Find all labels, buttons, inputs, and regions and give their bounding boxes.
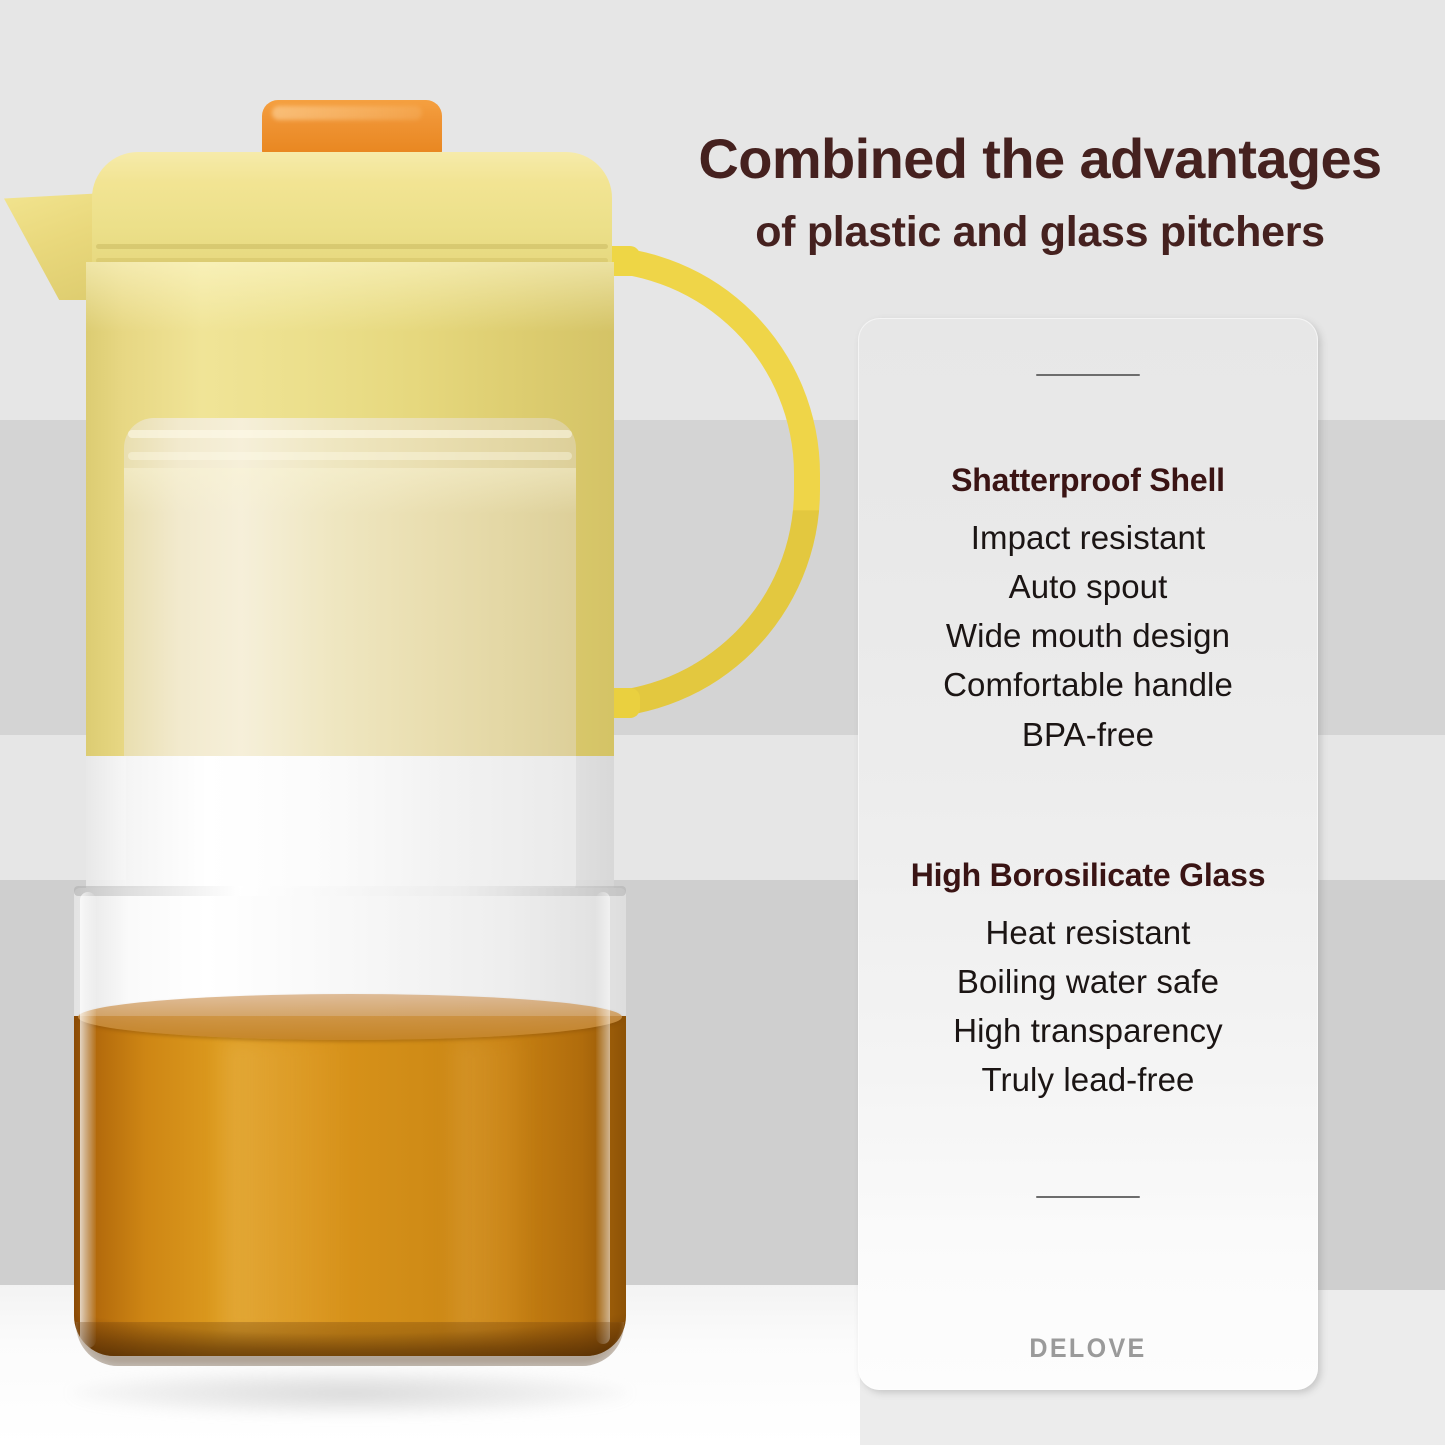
inner-jar-thread-lower (128, 452, 572, 460)
liquid-highlight-left (224, 1038, 344, 1338)
feature-item: Truly lead-free (858, 1055, 1318, 1104)
panel-divider-bottom (1036, 1196, 1140, 1198)
glass-jar-base (76, 1322, 624, 1366)
feature-item: BPA-free (858, 710, 1318, 759)
inner-jar-shoulder-highlight (124, 468, 576, 514)
glass-jar-rim (74, 886, 626, 896)
lid-seam-upper (96, 244, 608, 249)
feature-group-high-borosilicate-glass: High Borosilicate Glass Heat resistant B… (858, 857, 1318, 1105)
glass-highlight-right (596, 892, 610, 1344)
inner-filter-tube (126, 756, 576, 890)
feature-item: Impact resistant (858, 513, 1318, 562)
feature-item: Heat resistant (858, 908, 1318, 957)
liquid-surface-meniscus (78, 994, 622, 1040)
borosilicate-glass-jar (74, 888, 626, 1356)
pitcher-lid (92, 152, 612, 270)
feature-item: Boiling water safe (858, 957, 1318, 1006)
glass-highlight-left (80, 892, 96, 1348)
feature-group-title: High Borosilicate Glass (858, 857, 1318, 894)
feature-group-shatterproof-shell: Shatterproof Shell Impact resistant Auto… (858, 462, 1318, 759)
headline-line-2: of plastic and glass pitchers (640, 207, 1440, 259)
feature-item: Wide mouth design (858, 611, 1318, 660)
feature-item: High transparency (858, 1006, 1318, 1055)
brand-logo: DELOVE (874, 1333, 1302, 1364)
liquid-highlight-right (454, 1038, 534, 1338)
panel-divider-top (1036, 374, 1140, 376)
feature-item: Auto spout (858, 562, 1318, 611)
shell-top-sheen (86, 262, 614, 332)
lid-knob-highlight (272, 106, 422, 120)
feature-item: Comfortable handle (858, 660, 1318, 709)
headline-line-1: Combined the advantages (640, 128, 1440, 191)
feature-panel: Shatterproof Shell Impact resistant Auto… (858, 318, 1318, 1390)
feature-group-title: Shatterproof Shell (858, 462, 1318, 499)
inner-jar-thread-upper (128, 430, 572, 438)
headline: Combined the advantages of plastic and g… (640, 128, 1440, 258)
product-marketing-image: Combined the advantages of plastic and g… (0, 0, 1445, 1445)
